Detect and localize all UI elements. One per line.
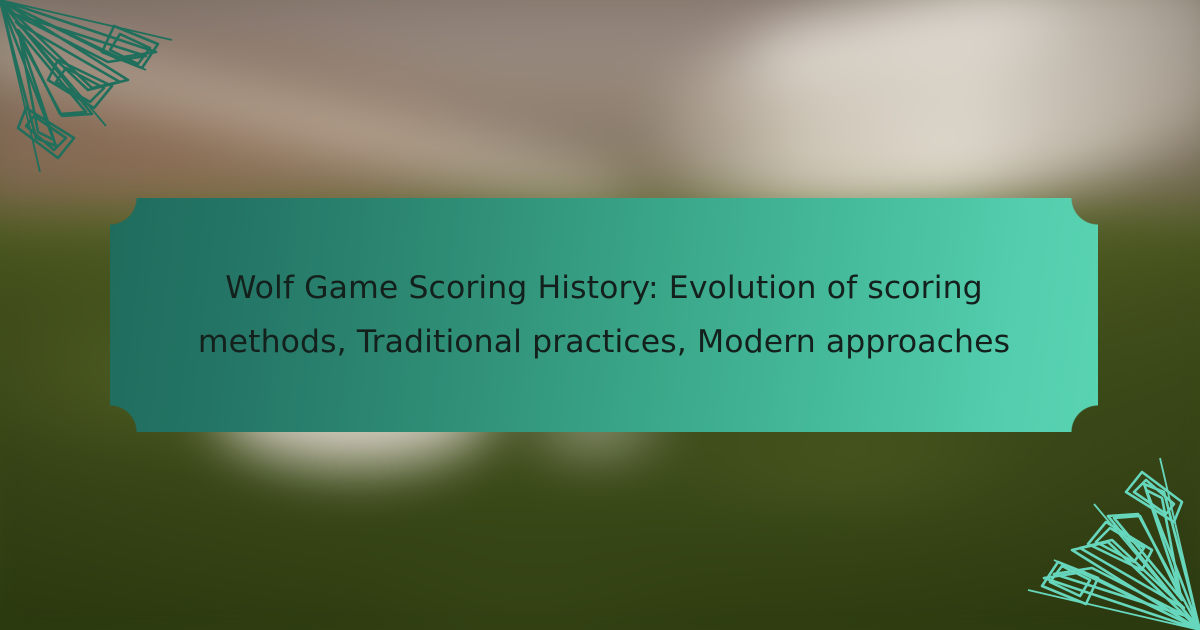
og-image-canvas: Wolf Game Scoring History: Evolution of …: [0, 0, 1200, 630]
page-title: Wolf Game Scoring History: Evolution of …: [110, 198, 1098, 432]
title-banner: Wolf Game Scoring History: Evolution of …: [110, 198, 1098, 432]
